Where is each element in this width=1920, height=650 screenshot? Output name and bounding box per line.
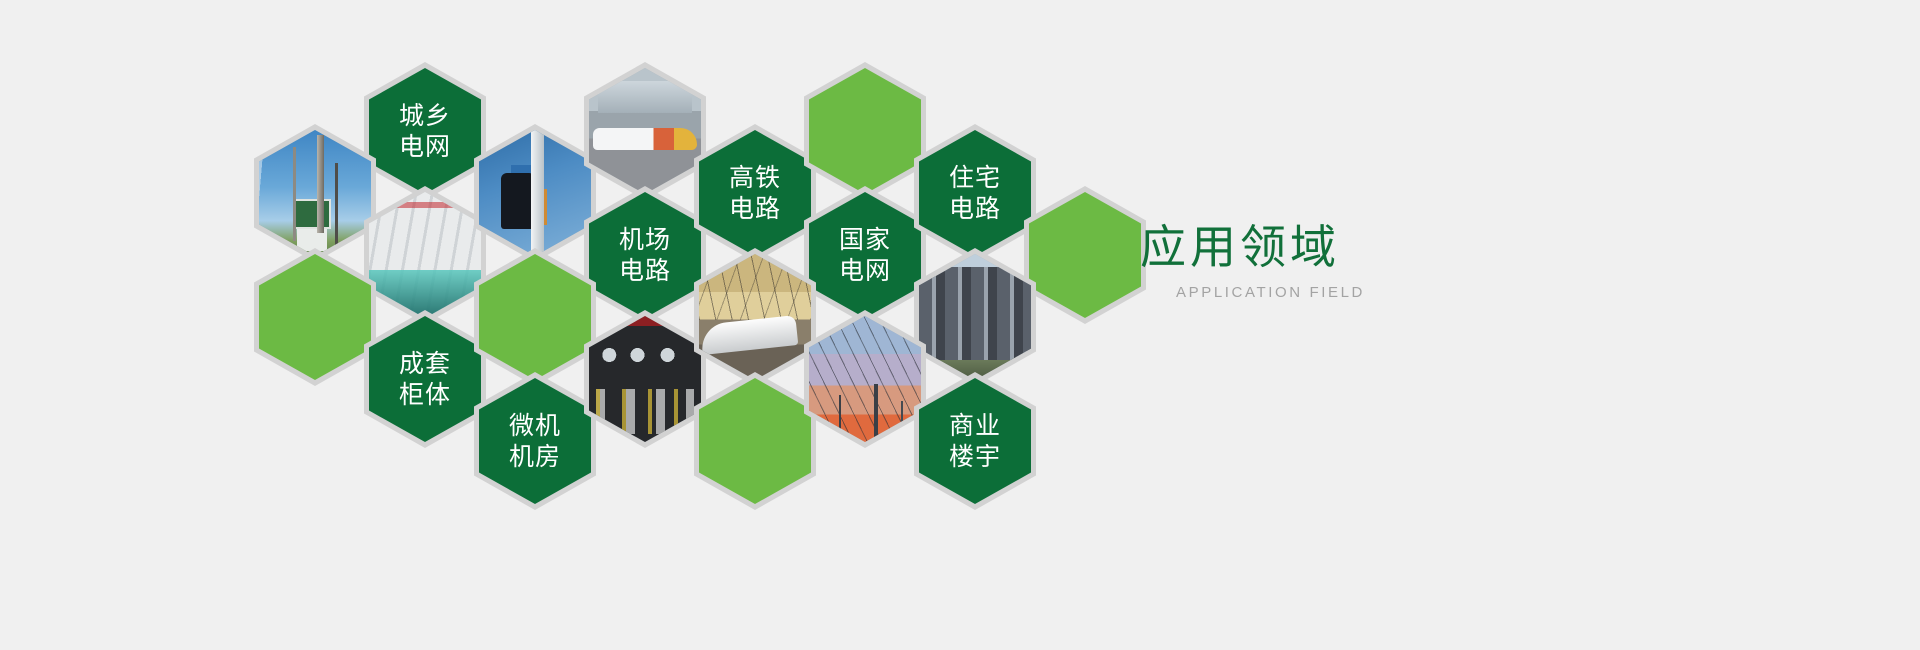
hex-photo-relay-panels[interactable] <box>584 310 706 448</box>
hex-blank-light-left[interactable] <box>254 248 376 386</box>
hex-photo-lineman[interactable] <box>474 124 596 262</box>
hex-complete-cabinet[interactable]: 成套 柜体 <box>364 310 486 448</box>
title-block: 应用领域 APPLICATION FIELD <box>1140 218 1560 301</box>
hex-state-grid[interactable]: 国家 电网 <box>804 186 926 324</box>
hex-blank-light-mid[interactable] <box>474 248 596 386</box>
hex-photo-pylon-dusk[interactable] <box>804 310 926 448</box>
hex-photo-utility-pole[interactable] <box>254 124 376 262</box>
hex-blank-light-bottom[interactable] <box>694 372 816 510</box>
hex-blank-light-top[interactable] <box>804 62 926 200</box>
hexagon-honeycomb-grid: 城乡 电网机场 电路高铁 电路国家 电网住宅 电路成套 柜体微机 机房商业 楼宇 <box>0 0 1110 650</box>
hex-photo-highspeed-train[interactable] <box>694 248 816 386</box>
hex-highspeed-rail-circuit[interactable]: 高铁 电路 <box>694 124 816 262</box>
hex-commercial-building[interactable]: 商业 楼宇 <box>914 372 1036 510</box>
hex-photo-airport-apron[interactable] <box>584 62 706 200</box>
hex-airport-circuit[interactable]: 机场 电路 <box>584 186 706 324</box>
application-field-banner: 城乡 电网机场 电路高铁 电路国家 电网住宅 电路成套 柜体微机 机房商业 楼宇… <box>0 0 1920 650</box>
hex-photo-residential-tower[interactable] <box>914 248 1036 386</box>
hex-blank-light-right[interactable] <box>1024 186 1146 324</box>
hex-photo-switchgear-row[interactable] <box>364 186 486 324</box>
hex-urban-rural-grid[interactable]: 城乡 电网 <box>364 62 486 200</box>
hex-microcomputer-room[interactable]: 微机 机房 <box>474 372 596 510</box>
hex-residential-circuit[interactable]: 住宅 电路 <box>914 124 1036 262</box>
page-subtitle: APPLICATION FIELD <box>1140 284 1560 301</box>
page-title: 应用领域 <box>1140 218 1560 276</box>
